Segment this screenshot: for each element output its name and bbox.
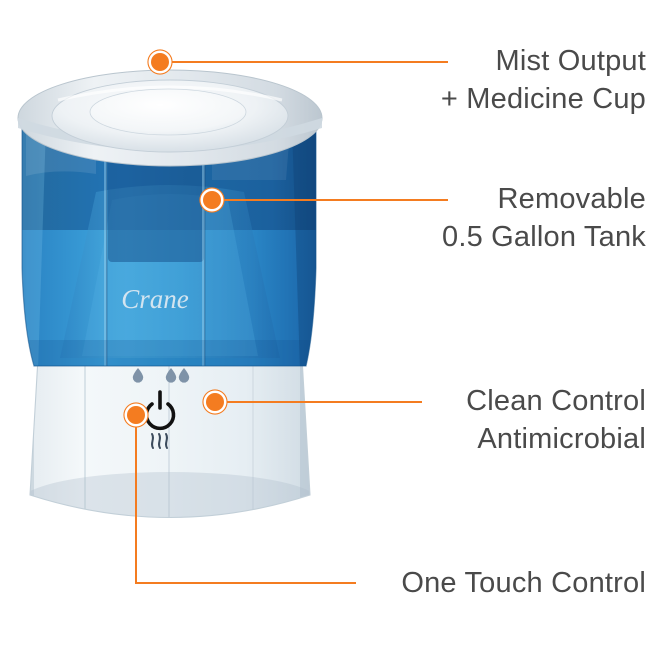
callout-label-removable-tank-line-2: 0.5 Gallon Tank [442,218,646,256]
leader-line-mist-output [170,61,448,63]
callout-label-clean-control: Clean Control Antimicrobial [466,382,646,458]
callout-dot-clean-control[interactable] [206,393,224,411]
callout-dot-one-touch-control[interactable] [127,406,145,424]
callout-label-clean-control-line-2: Antimicrobial [466,420,646,458]
leader-line-clean-control [225,401,422,403]
callout-label-mist-output-line-1: Mist Output [441,42,646,80]
callout-dot-mist-output[interactable] [151,53,169,71]
mist-output-lid [18,70,322,166]
callout-label-mist-output-line-2: + Medicine Cup [441,80,646,118]
callout-label-one-touch-control-line-1: One Touch Control [401,564,646,602]
leader-line-one-touch-control-horizontal [135,582,356,584]
callout-label-removable-tank-line-1: Removable [442,180,646,218]
leader-line-one-touch-control-vertical [135,424,137,584]
callout-dot-removable-tank[interactable] [203,191,221,209]
callout-label-one-touch-control: One Touch Control [401,564,646,602]
crane-logo: Crane [121,284,189,314]
callout-label-clean-control-line-1: Clean Control [466,382,646,420]
leader-line-removable-tank [222,199,448,201]
diagram-canvas: Crane [0,0,650,650]
callout-label-mist-output: Mist Output + Medicine Cup [441,42,646,118]
product-illustration: Crane [0,40,340,540]
callout-label-removable-tank: Removable 0.5 Gallon Tank [442,180,646,256]
